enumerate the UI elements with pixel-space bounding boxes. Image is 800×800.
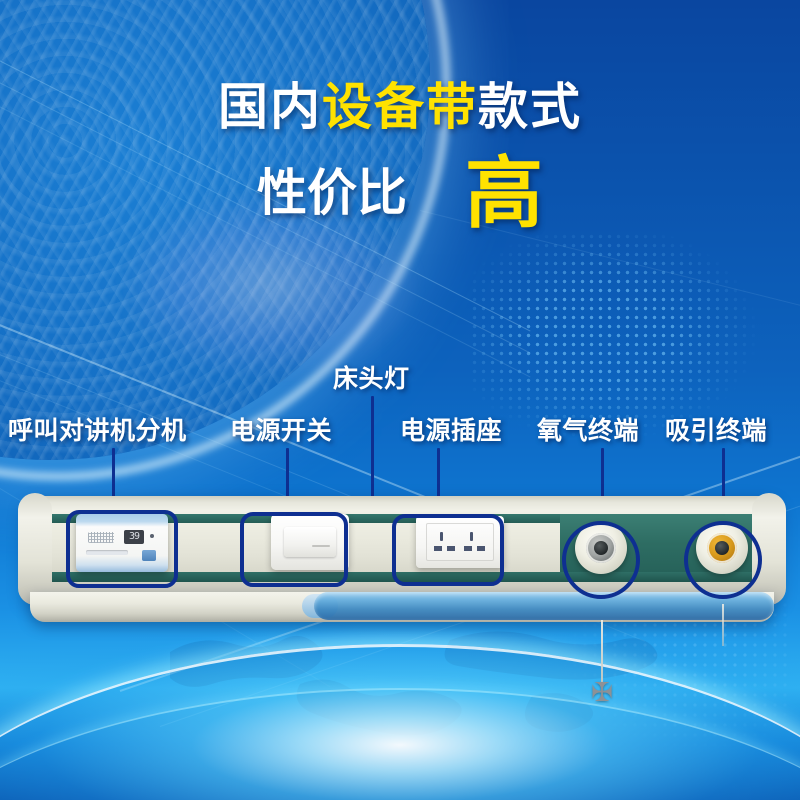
callout-label-power-switch: 电源开关: [230, 411, 332, 447]
highlight-box-intercom: [66, 510, 178, 588]
callout-label-intercom: 呼叫对讲机分机: [8, 411, 187, 447]
cord-handle-icon[interactable]: ✠: [589, 682, 615, 704]
suction-pull-cord: [722, 604, 724, 646]
bed-lamp-diffuser[interactable]: [314, 592, 774, 620]
product-banner: 国内设备带款式 性价比高 呼叫对讲机分机 电源开关 床头灯 电源插座 氧气终端 …: [0, 0, 800, 800]
highlight-box-power-socket: [392, 514, 504, 586]
callout-label-oxygen: 氧气终端: [537, 411, 639, 447]
highlight-circle-oxygen: [562, 521, 640, 599]
callout-label-power-socket: 电源插座: [400, 411, 502, 447]
highlight-circle-suction: [684, 521, 762, 599]
callout-label-bed-lamp: 床头灯: [333, 359, 410, 395]
callout-label-suction: 吸引终端: [665, 411, 767, 447]
panel-endcap-left: [18, 493, 52, 605]
highlight-box-power-switch: [240, 512, 348, 587]
